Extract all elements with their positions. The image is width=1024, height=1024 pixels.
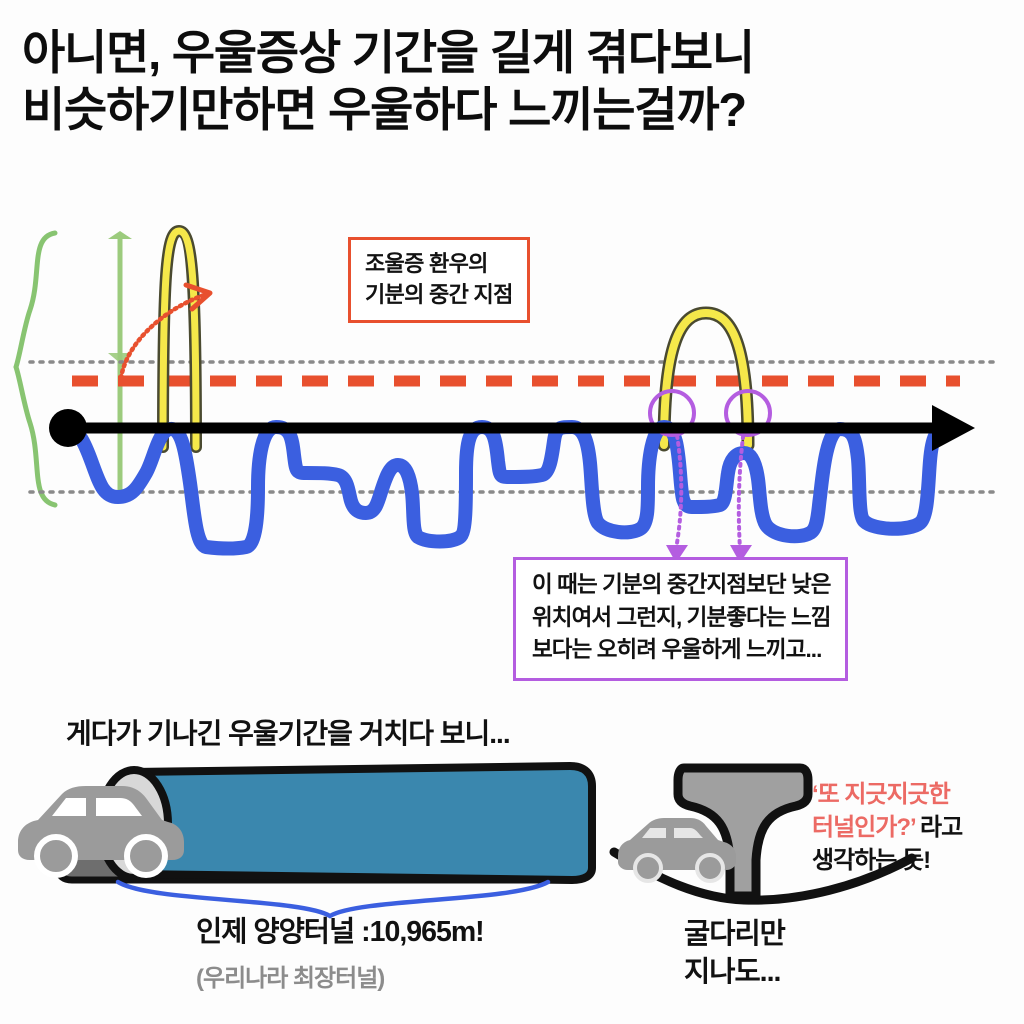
mania-spike-1: [163, 231, 196, 447]
below-midpoint-callout-box: 이 때는 기분의 중간지점보단 낮은 위치여서 그런지, 기분좋다는 느낌 보다…: [513, 557, 848, 681]
midpoint-callout-box: 조울증 환우의 기분의 중간 지점: [348, 237, 530, 323]
tunnel-length-sublabel: (우리나라 최장터널): [196, 958, 384, 993]
thought-caption: ‘또 지긋지긋한 터널인가?’ 라고 생각하는 듯!: [812, 745, 962, 877]
tunnel-length-label: 인제 양양터널 :10,965m!: [196, 918, 484, 948]
long-depression-caption: 게다가 기나긴 우울기간을 거치다 보니...: [66, 712, 510, 752]
underpass-caption: 굴다리만 지나도...: [684, 916, 785, 991]
infographic-page: 아니면, 우울증상 기간을 길게 겪다보니 비슷하기만하면 우울하다 느끼는걸까…: [0, 0, 1024, 1024]
tunnel-length-brace-icon: [118, 882, 548, 916]
mood-range-brace-icon: [16, 233, 55, 505]
mood-amplitude-arrow-icon: [108, 231, 132, 503]
page-title: 아니면, 우울증상 기간을 길게 겪다보니 비슷하기만하면 우울하다 느끼는걸까…: [22, 24, 1002, 139]
